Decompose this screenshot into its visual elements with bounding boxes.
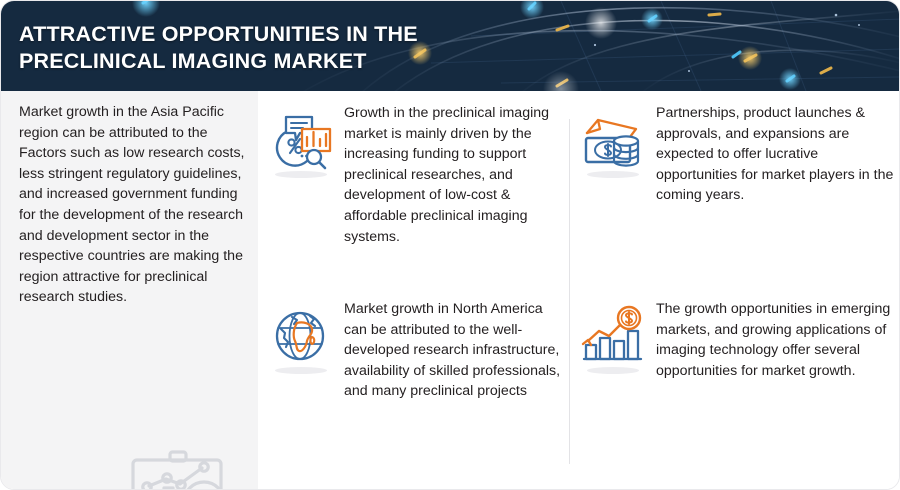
asia-pacific-panel: Market growth in the Asia Pacific region… [1, 91, 258, 490]
opportunity-cell-north-america: Market growth in North America can be at… [258, 299, 569, 402]
opportunities-grid: Growth in the preclinical imaging market… [258, 91, 900, 490]
opportunity-cell-partnerships: Partnerships, product launches & approva… [570, 103, 900, 206]
icon-shadow [587, 171, 639, 178]
icon-shadow [587, 367, 639, 374]
page-title-line-1: ATTRACTIVE OPPORTUNITIES IN THE [19, 21, 539, 48]
opportunity-cell-funding-growth: Growth in the preclinical imaging market… [258, 103, 569, 247]
presentation-board-chart-magnifier-icon [123, 446, 245, 490]
page-title-line-2: PRECLINICAL IMAGING MARKET [19, 48, 539, 75]
opportunity-text-funding-growth: Growth in the preclinical imaging market… [334, 103, 569, 247]
pie-chart-percent-bars-magnifier-icon [266, 107, 334, 175]
content-area: Market growth in the Asia Pacific region… [1, 91, 900, 490]
opportunity-text-emerging-markets: The growth opportunities in emerging mar… [646, 299, 900, 381]
asia-pacific-paragraph: Market growth in the Asia Pacific region… [19, 102, 247, 308]
opportunity-text-north-america: Market growth in North America can be at… [334, 299, 569, 402]
icon-shadow [275, 367, 327, 374]
opportunity-cell-emerging-markets: The growth opportunities in emerging mar… [570, 299, 900, 381]
banknote-coins-money-icon [578, 107, 646, 175]
growth-bar-chart-dollar-icon [578, 303, 646, 371]
infographic-card: ATTRACTIVE OPPORTUNITIES IN THE PRECLINI… [0, 0, 900, 490]
page-title: ATTRACTIVE OPPORTUNITIES IN THE PRECLINI… [19, 21, 539, 75]
header-banner: ATTRACTIVE OPPORTUNITIES IN THE PRECLINI… [1, 1, 900, 91]
globe-world-icon [266, 303, 334, 371]
opportunity-text-partnerships: Partnerships, product launches & approva… [646, 103, 900, 206]
icon-shadow [275, 171, 327, 178]
